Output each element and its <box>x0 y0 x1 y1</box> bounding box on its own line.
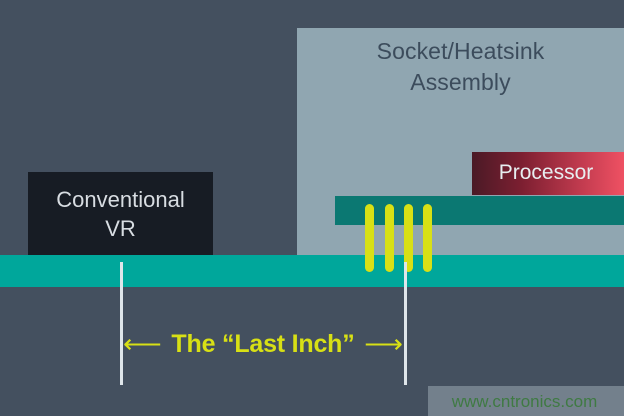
socket-heatsink-assembly-label: Socket/Heatsink Assembly <box>297 36 624 98</box>
last-inch-annotation: ⟵ The “Last Inch” ⟶ <box>120 327 406 361</box>
pcb-board <box>0 255 624 287</box>
connector-pin <box>365 204 374 272</box>
processor-label: Processor <box>472 160 620 186</box>
arrow-left-icon: ⟵ <box>120 331 165 358</box>
arrow-right-icon: ⟶ <box>361 331 406 358</box>
measurement-guide-left <box>120 262 123 385</box>
conventional-vr-label: Conventional VR <box>28 185 213 243</box>
last-inch-label: The “Last Inch” <box>165 329 362 359</box>
connector-pin <box>423 204 432 272</box>
connector-pin <box>385 204 394 272</box>
diagram-canvas: Socket/Heatsink Assembly Processor Conve… <box>0 0 624 416</box>
measurement-guide-right <box>404 262 407 385</box>
package-substrate-bar <box>335 196 624 225</box>
watermark-label: www.cntronics.com <box>428 392 621 412</box>
